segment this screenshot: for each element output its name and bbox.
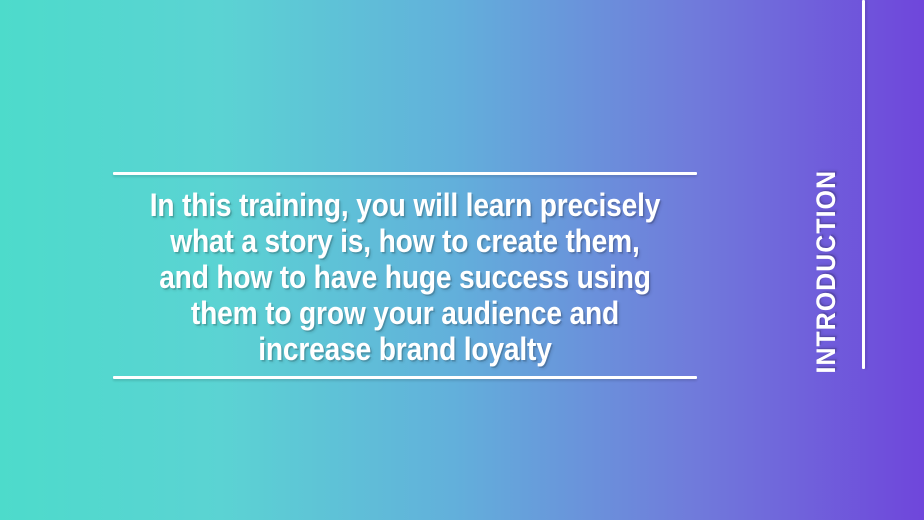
slide-canvas: In this training, you will learn precise… bbox=[0, 0, 924, 520]
vertical-divider-rule bbox=[862, 0, 865, 369]
headline-block: In this training, you will learn precise… bbox=[113, 172, 697, 379]
section-label-text: INTRODUCTION bbox=[813, 170, 840, 374]
headline-bottom-rule bbox=[113, 376, 697, 379]
section-label: INTRODUCTION bbox=[798, 172, 854, 372]
headline-text: In this training, you will learn precise… bbox=[148, 175, 662, 376]
